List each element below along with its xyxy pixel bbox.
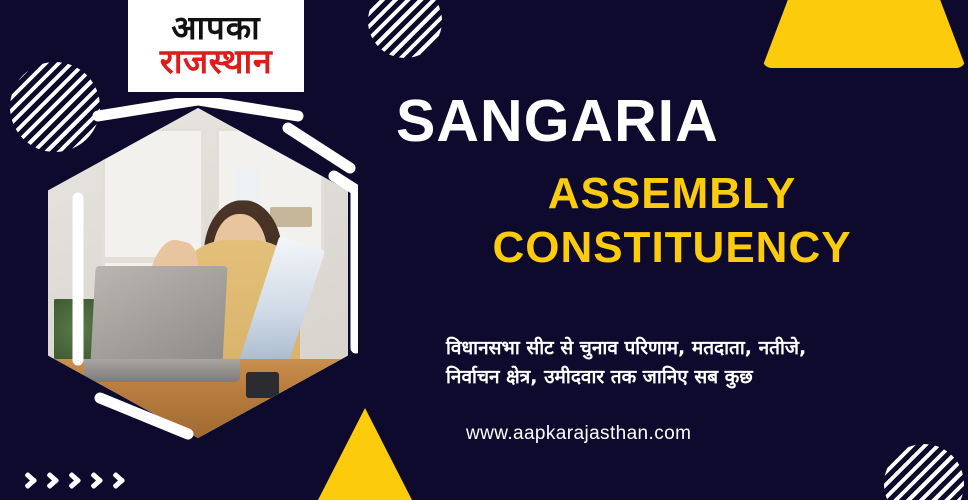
description-text: विधानसभा सीट से चुनाव परिणाम, मतदाता, नत… <box>446 334 916 393</box>
photo-shelf <box>102 128 204 260</box>
chevron-right-icon <box>46 466 62 490</box>
striped-circle-bottom-right-icon <box>884 444 964 500</box>
page-subtitle-line1: ASSEMBLY <box>396 167 948 221</box>
chevron-right-icon <box>112 466 128 490</box>
photo-laptop-base <box>84 359 240 382</box>
page-subtitle-line2: CONSTITUENCY <box>396 221 948 275</box>
logo-text-line1: आपका <box>171 11 260 44</box>
description-line1: विधानसभा सीट से चुनाव परिणाम, मतदाता, नत… <box>446 334 916 363</box>
banner-container: आपका राजस्थान <box>0 0 968 500</box>
photo-book <box>270 207 312 227</box>
chevron-right-icon <box>90 466 106 490</box>
page-subtitle: ASSEMBLY CONSTITUENCY <box>396 167 956 274</box>
page-title: SANGARIA <box>396 92 956 151</box>
brand-logo[interactable]: आपका राजस्थान <box>128 0 304 92</box>
photo-laptop-screen <box>90 266 227 365</box>
logo-text-line2: राजस्थान <box>160 45 272 79</box>
photo-phone <box>246 372 279 398</box>
headline-block: SANGARIA ASSEMBLY CONSTITUENCY <box>396 92 956 274</box>
chevron-right-icon <box>24 466 40 490</box>
chevron-right-icon <box>68 466 84 490</box>
description-line2: निर्वाचन क्षेत्र, उमीदवार तक जानिए सब कु… <box>446 363 916 392</box>
hexagon-photo-frame <box>48 108 348 438</box>
yellow-triangle-top-right-icon <box>762 0 966 68</box>
chevron-arrows-group <box>24 466 128 490</box>
hero-photo <box>48 108 348 438</box>
striped-circle-top-icon <box>368 0 442 58</box>
website-url[interactable]: www.aapkarajasthan.com <box>466 423 691 445</box>
